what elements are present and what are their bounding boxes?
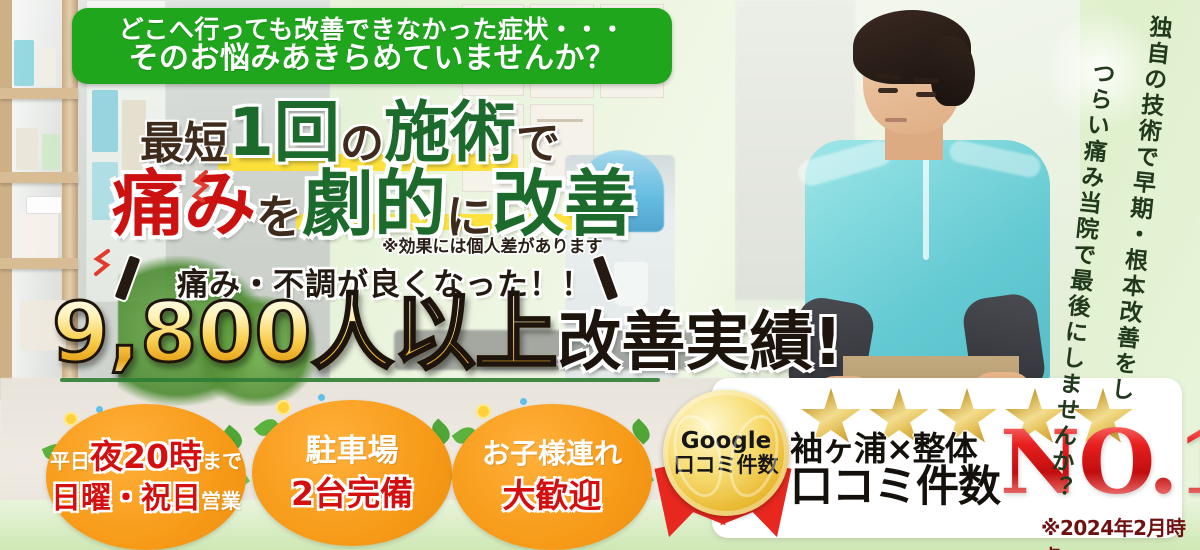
flower-icon <box>476 404 491 419</box>
feature-1-line2-tail: 営業 <box>201 490 241 512</box>
count-number: 9,800 <box>52 293 311 375</box>
effect-disclaimer: ※効果には個人差があります <box>382 232 603 257</box>
shelf-price-tag <box>26 196 62 214</box>
shelf-product <box>38 48 56 86</box>
laurel-wreath-icon <box>722 410 787 503</box>
headline-pain-word: 痛み <box>112 168 256 240</box>
count-underline <box>60 378 660 382</box>
count-label: 改善実績! <box>557 311 842 375</box>
improvement-count: 9,800 人以上 改善実績! <box>52 293 843 375</box>
dot-decoration <box>318 394 325 401</box>
google-review-medal: Google 口コミ件数 <box>655 390 795 540</box>
headline-prefix: 最短 <box>140 122 228 166</box>
feature-1-big: 夜20時 <box>90 439 202 475</box>
shelf-board <box>0 88 78 99</box>
shelf-product <box>42 134 60 170</box>
feature-2-big: 駐車場 <box>306 434 399 468</box>
feature-1-small: 平日 <box>50 450 90 472</box>
feature-badge-children: お子様連れ 大歓迎 <box>452 404 652 550</box>
count-unit: 人以上 <box>311 293 557 375</box>
shelf-board <box>0 258 78 269</box>
headline-particle-de: で <box>516 122 560 166</box>
rank-date-note: ※2024年2月時点 <box>1041 512 1200 550</box>
green-headline-line1: どこへ行っても改善できなかった症状・・・ <box>119 17 626 43</box>
headline-dramatic-word: 劇的 <box>302 168 446 240</box>
shelf-product <box>16 128 38 170</box>
pain-zigzag-icon <box>86 248 116 282</box>
headline-treatment-word: 施術 <box>384 100 516 166</box>
feature-1-tail: まで <box>202 450 242 472</box>
shelf-product <box>14 40 34 86</box>
shelf-post <box>0 0 12 400</box>
shirt-zipper <box>923 150 929 260</box>
feature-3-big: お子様連れ <box>482 439 622 470</box>
headline-line-1: 最短 1回 の 施術 で <box>140 100 700 166</box>
feature-2-line2: 2台完備 <box>291 476 413 512</box>
green-headline-banner: どこへ行っても改善できなかった症状・・・ そのお悩みあきらめていませんか？ <box>72 8 672 84</box>
headline-particle-wo: を <box>256 194 302 240</box>
feature-3-line2: 大歓迎 <box>503 478 602 514</box>
rank-metric: 口コミ件数 <box>790 466 1000 510</box>
dot-decoration <box>520 398 527 405</box>
shelf-product <box>18 212 58 258</box>
feature-badge-hours: 平日 夜20時 まで 日曜・祝日 営業 <box>46 404 246 550</box>
pain-zigzag-icon <box>186 170 216 204</box>
rank-number-one: NO.1 <box>1000 418 1200 506</box>
feature-badge-parking: 駐車場 2台完備 <box>252 400 452 546</box>
medal-disc: Google 口コミ件数 <box>663 390 789 516</box>
promo-banner: どこへ行っても改善できなかった症状・・・ そのお悩みあきらめていませんか？ 最短… <box>0 0 1200 550</box>
feature-1-line2: 日曜・祝日 <box>51 482 201 515</box>
rank-category: 袖ヶ浦×整体 <box>790 432 1000 466</box>
rank-text-block: 袖ヶ浦×整体 口コミ件数 <box>790 432 1000 510</box>
flower-icon <box>276 400 291 415</box>
headline-number: 1回 <box>228 100 340 166</box>
headline-improve-word: 改善 <box>492 168 636 240</box>
laurel-wreath-icon <box>666 410 731 503</box>
green-headline-line2: そのお悩みあきらめていませんか？ <box>128 43 615 75</box>
wall-product <box>92 90 118 152</box>
headline-particle-no: の <box>340 122 384 166</box>
shelf-board <box>0 172 78 183</box>
